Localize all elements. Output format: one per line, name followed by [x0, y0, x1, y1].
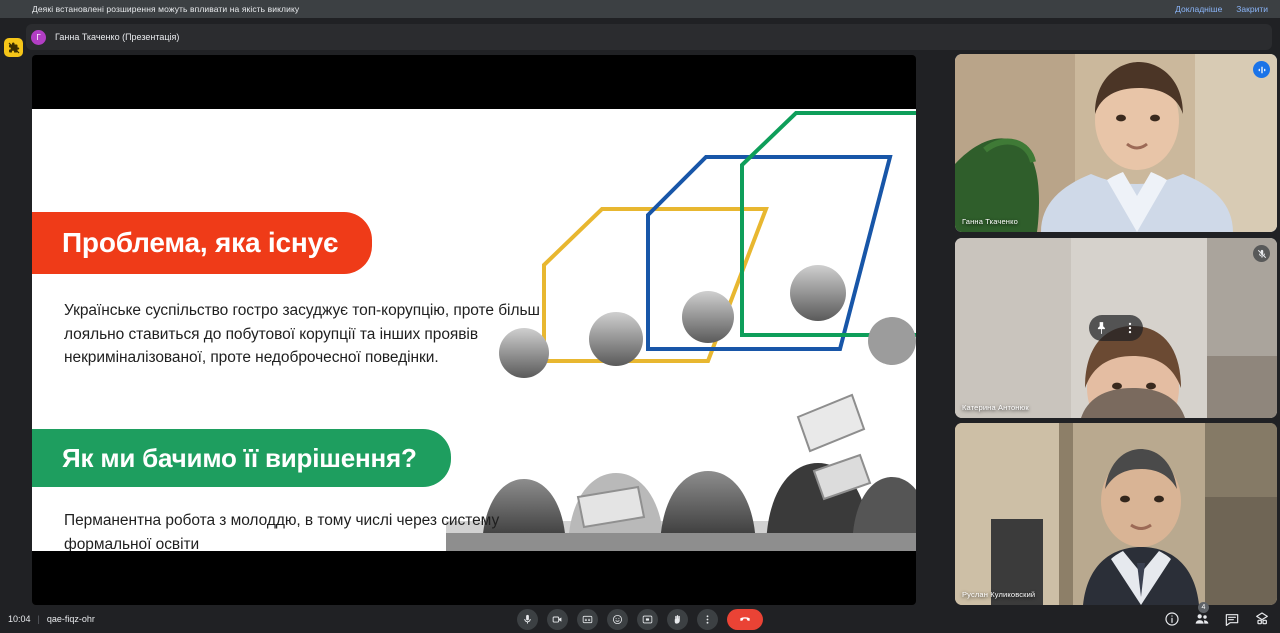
reactions-button[interactable] [607, 609, 628, 630]
chat-button[interactable] [1224, 611, 1240, 627]
more-vert-icon[interactable] [1123, 321, 1137, 335]
end-call-button[interactable] [727, 609, 763, 630]
captions-button[interactable] [577, 609, 598, 630]
participant-name: Катерина Антонюк [962, 403, 1029, 412]
meeting-meta: 10:04 | qae-fiqz-ohr [8, 614, 95, 624]
shared-screen-stage[interactable]: Проблема, яка існує Українське суспільст… [32, 55, 916, 605]
extension-warning-bar: Деякі встановлені розширення можуть впли… [0, 0, 1280, 18]
secondary-controls: 4 [1164, 611, 1270, 627]
left-rail [0, 18, 26, 630]
participant-tile-strip: Ганна Ткаченко [955, 54, 1277, 605]
presentation-slide: Проблема, яка існує Українське суспільст… [32, 109, 916, 551]
meet-window: Деякі встановлені розширення можуть впли… [0, 0, 1280, 633]
learn-more-link[interactable]: Докладніше [1175, 4, 1222, 14]
more-options-button[interactable] [697, 609, 718, 630]
presenter-pill[interactable]: Г Ганна Ткаченко (Презентація) [26, 24, 1272, 50]
students-photo [446, 221, 916, 551]
call-controls [517, 609, 763, 630]
participant-tile[interactable]: Руслан Куликовский [955, 423, 1277, 605]
avatar: Г [31, 30, 46, 45]
tile-hover-controls [1089, 315, 1143, 341]
problem-banner: Проблема, яка існує [32, 212, 372, 274]
participant-name: Руслан Куликовский [962, 590, 1035, 599]
pin-icon[interactable] [1095, 321, 1109, 335]
presenter-banner: Г Ганна Ткаченко (Презентація) [26, 22, 1280, 52]
bottom-control-bar: 10:04 | qae-fiqz-ohr [0, 605, 1280, 633]
participant-tile[interactable]: Катерина Антонюк [955, 238, 1277, 418]
dismiss-link[interactable]: Закрити [1236, 4, 1268, 14]
presenter-name: Ганна Ткаченко (Презентація) [55, 32, 179, 42]
clock-time: 10:04 [8, 614, 31, 624]
speaking-indicator-icon [1253, 61, 1270, 78]
solution-body-text: Перманентна робота з молоддю, в тому чис… [64, 509, 544, 551]
participants-button[interactable]: 4 [1194, 611, 1210, 627]
mic-muted-icon [1253, 245, 1270, 262]
meeting-code: qae-fiqz-ohr [47, 614, 95, 624]
mic-button[interactable] [517, 609, 538, 630]
present-button[interactable] [637, 609, 658, 630]
participants-count-badge: 4 [1198, 602, 1209, 613]
problem-banner-text: Проблема, яка існує [62, 227, 338, 259]
activities-button[interactable] [1254, 611, 1270, 627]
extension-warning-text: Деякі встановлені розширення можуть впли… [32, 4, 299, 14]
raise-hand-button[interactable] [667, 609, 688, 630]
problem-body-text: Українське суспільство гостро засуджує т… [64, 299, 544, 370]
meta-separator: | [38, 614, 40, 624]
meeting-details-button[interactable] [1164, 611, 1180, 627]
camera-button[interactable] [547, 609, 568, 630]
participant-name: Ганна Ткаченко [962, 217, 1018, 226]
extension-warning-actions: Докладніше Закрити [1175, 4, 1280, 14]
participant-tile[interactable]: Ганна Ткаченко [955, 54, 1277, 232]
solution-banner-text: Як ми бачимо її вирішення? [62, 443, 417, 474]
extension-blocked-icon[interactable] [4, 38, 23, 57]
solution-banner: Як ми бачимо її вирішення? [32, 429, 451, 487]
